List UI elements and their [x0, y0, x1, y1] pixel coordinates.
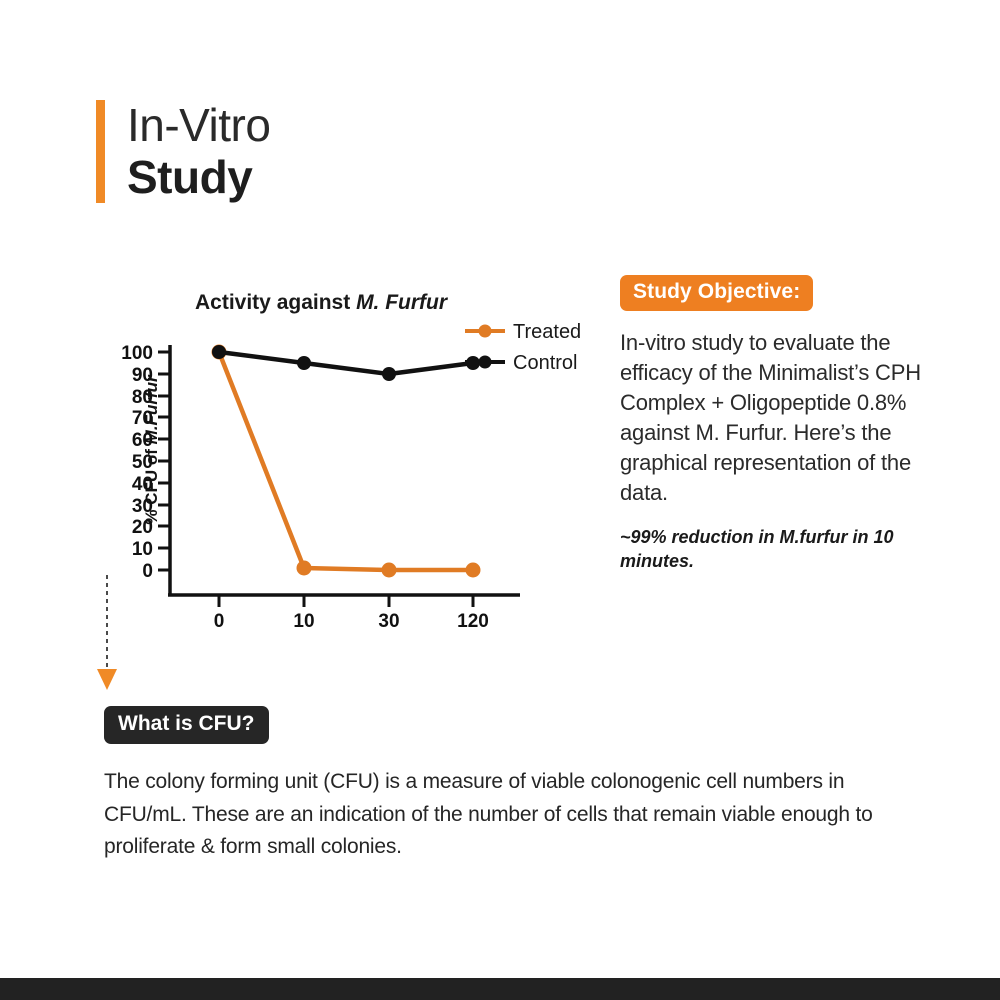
chart-x-ticks — [219, 595, 473, 607]
chart-axes — [168, 345, 520, 595]
header-text-group: In-Vitro Study — [127, 100, 270, 203]
legend-label-treated: Treated — [513, 321, 581, 343]
page-title-line2: Study — [127, 152, 270, 204]
legend-marker-control — [479, 356, 492, 369]
y-tick-label: 50 — [132, 452, 153, 473]
x-tick-label: 10 — [293, 611, 314, 630]
study-objective-note: ~99% reduction in M.furfur in 10 minutes… — [620, 526, 940, 574]
y-tick-label: 80 — [132, 387, 153, 408]
objective-panel: Study Objective: In-vitro study to evalu… — [620, 275, 940, 574]
data-point — [297, 356, 311, 370]
data-point — [212, 345, 226, 359]
data-point — [382, 367, 396, 381]
chart-series-treated — [212, 345, 481, 578]
data-point — [297, 561, 312, 576]
study-objective-body: In-vitro study to evaluate the efficacy … — [620, 328, 940, 507]
bottom-band — [0, 978, 1000, 1000]
header-accent-bar — [96, 100, 105, 203]
chart-y-ticks — [158, 352, 170, 570]
legend-label-control: Control — [513, 352, 577, 374]
x-tick-label: 120 — [457, 611, 489, 630]
data-point — [382, 563, 397, 578]
cfu-badge: What is CFU? — [104, 706, 269, 744]
x-tick-label: 30 — [378, 611, 399, 630]
y-tick-label: 10 — [132, 539, 153, 560]
chart-svg: 100 90 80 70 60 50 40 30 20 10 0 0 10 30… — [90, 285, 610, 630]
data-point — [466, 563, 481, 578]
cfu-section: What is CFU? The colony forming unit (CF… — [104, 706, 904, 864]
legend-item-control[interactable]: Control — [465, 352, 577, 374]
chart-series-control — [212, 345, 480, 381]
page-title-line1: In-Vitro — [127, 100, 270, 152]
y-tick-label: 100 — [121, 343, 153, 364]
y-tick-label: 30 — [132, 496, 153, 517]
chart-x-tick-labels: 0 10 30 120 — [214, 611, 489, 630]
page-header: In-Vitro Study — [96, 100, 270, 203]
y-tick-label: 60 — [132, 430, 153, 451]
legend-marker-treated — [479, 325, 492, 338]
chart-legend: Treated Control — [465, 321, 581, 374]
y-tick-label: 90 — [132, 365, 153, 386]
chart-y-tick-labels: 100 90 80 70 60 50 40 30 20 10 0 — [121, 343, 153, 582]
chart-panel: Activity against M. Furfur % CFU of M.Fu… — [90, 285, 610, 630]
legend-item-treated[interactable]: Treated — [465, 321, 581, 343]
down-arrow-icon — [92, 575, 122, 695]
y-tick-label: 40 — [132, 474, 153, 495]
y-tick-label: 70 — [132, 408, 153, 429]
y-tick-label: 0 — [142, 561, 153, 582]
cfu-body: The colony forming unit (CFU) is a measu… — [104, 766, 904, 864]
study-objective-badge: Study Objective: — [620, 275, 813, 311]
arrow-annotation — [92, 575, 122, 700]
y-tick-label: 20 — [132, 517, 153, 538]
x-tick-label: 0 — [214, 611, 225, 630]
